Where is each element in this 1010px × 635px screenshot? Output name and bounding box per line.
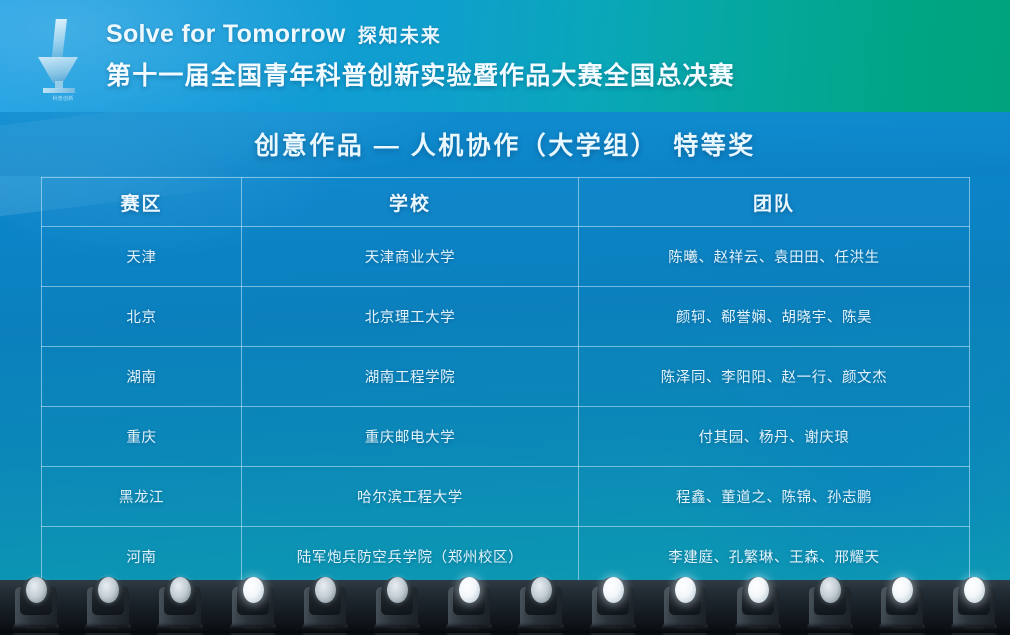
- trophy-base-shape: [43, 88, 75, 93]
- cell-region: 湖南: [42, 347, 242, 407]
- cell-school: 哈尔滨工程大学: [242, 467, 579, 527]
- section-title-band: 创意作品 — 人机协作（大学组） 特等奖: [0, 112, 1010, 176]
- cell-team: 李建庭、孔繁琳、王森、邢耀天: [579, 527, 970, 581]
- cell-region: 北京: [42, 287, 242, 347]
- trophy-top-shape: [50, 19, 67, 59]
- column-header-team: 团队: [579, 178, 970, 227]
- table-row: 北京 北京理工大学 颜轲、郗誉娴、胡晓宇、陈昊: [42, 287, 970, 347]
- column-header-region: 赛区: [42, 178, 242, 227]
- brand-english-title: Solve for Tomorrow: [106, 20, 346, 49]
- logo-caption: 科普创新: [40, 95, 86, 102]
- brand-chinese-subtitle: 探知未来: [358, 21, 442, 48]
- trophy-bowl-shape: [38, 57, 78, 83]
- cell-team: 陈曦、赵祥云、袁田田、任洪生: [579, 227, 970, 287]
- cell-team: 陈泽同、李阳阳、赵一行、颜文杰: [579, 347, 970, 407]
- led-screen: 科普创新 Solve for Tomorrow 探知未来 第十一届全国青年科普创…: [0, 0, 1010, 580]
- table-header-row: 赛区 学校 团队: [42, 178, 970, 227]
- cell-school: 陆军炮兵防空兵学院（郑州校区）: [242, 527, 579, 581]
- table-row: 黑龙江 哈尔滨工程大学 程鑫、董道之、陈锦、孙志鹏: [42, 467, 970, 527]
- stage-screenshot: 科普创新 Solve for Tomorrow 探知未来 第十一届全国青年科普创…: [0, 0, 1010, 635]
- table-row: 河南 陆军炮兵防空兵学院（郑州校区） 李建庭、孔繁琳、王森、邢耀天: [42, 527, 970, 581]
- cell-school: 湖南工程学院: [242, 347, 579, 407]
- cell-school: 天津商业大学: [242, 227, 579, 287]
- cell-team: 颜轲、郗誉娴、胡晓宇、陈昊: [579, 287, 970, 347]
- stage-cable-run: [0, 623, 1010, 633]
- cell-team: 程鑫、董道之、陈锦、孙志鹏: [579, 467, 970, 527]
- cell-region: 河南: [42, 527, 242, 581]
- trophy-logo-icon: 科普创新: [32, 13, 90, 99]
- column-header-school: 学校: [242, 178, 579, 227]
- event-header-banner: 科普创新 Solve for Tomorrow 探知未来 第十一届全国青年科普创…: [0, 0, 1010, 112]
- cell-region: 重庆: [42, 407, 242, 467]
- header-text-block: Solve for Tomorrow 探知未来 第十一届全国青年科普创新实验暨作…: [106, 20, 735, 92]
- brand-line: Solve for Tomorrow 探知未来: [106, 20, 735, 49]
- winners-table: 赛区 学校 团队 天津 天津商业大学 陈曦、赵祥云、袁田田、任洪生 北京 北京理…: [41, 177, 970, 580]
- cell-region: 天津: [42, 227, 242, 287]
- section-title-text: 创意作品 — 人机协作（大学组） 特等奖: [254, 126, 755, 162]
- table-body: 天津 天津商业大学 陈曦、赵祥云、袁田田、任洪生 北京 北京理工大学 颜轲、郗誉…: [42, 227, 970, 581]
- table-header: 赛区 学校 团队: [42, 178, 970, 227]
- table-row: 湖南 湖南工程学院 陈泽同、李阳阳、赵一行、颜文杰: [42, 347, 970, 407]
- cell-team: 付其园、杨丹、谢庆琅: [579, 407, 970, 467]
- cell-school: 重庆邮电大学: [242, 407, 579, 467]
- cell-school: 北京理工大学: [242, 287, 579, 347]
- cell-region: 黑龙江: [42, 467, 242, 527]
- event-title: 第十一届全国青年科普创新实验暨作品大赛全国总决赛: [106, 56, 735, 92]
- table-row: 重庆 重庆邮电大学 付其园、杨丹、谢庆琅: [42, 407, 970, 467]
- table-row: 天津 天津商业大学 陈曦、赵祥云、袁田田、任洪生: [42, 227, 970, 287]
